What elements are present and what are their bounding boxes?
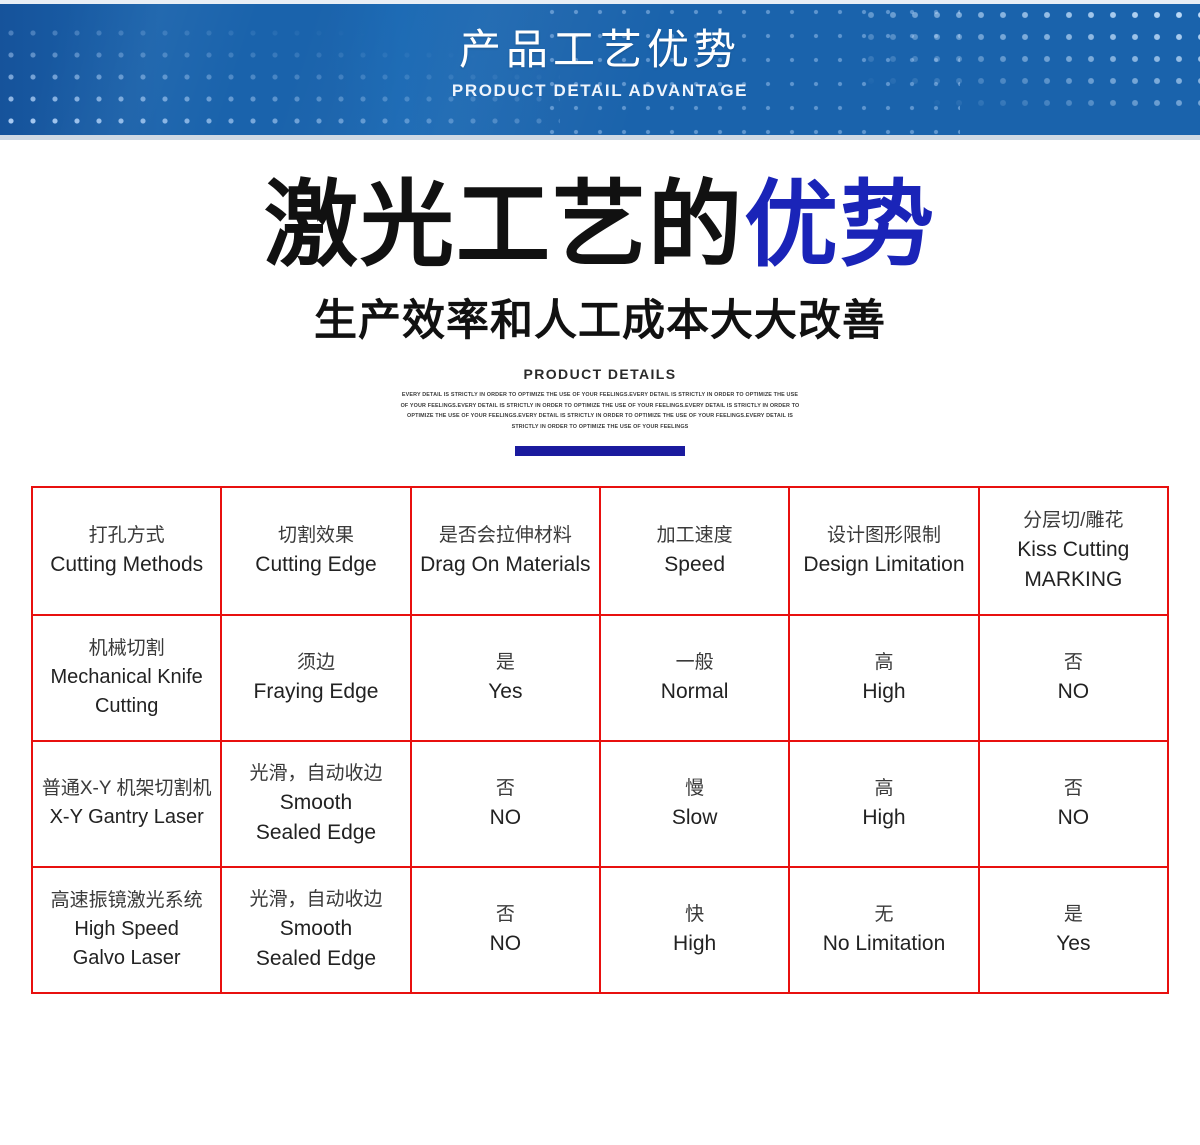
- cell-cutting-edge: 光滑，自动收边 Smooth Sealed Edge: [221, 741, 410, 867]
- cell-cn: 否: [984, 776, 1163, 803]
- banner-title-english: PRODUCT DETAIL ADVANTAGE: [0, 81, 1200, 101]
- banner-content: 产品工艺优势 PRODUCT DETAIL ADVANTAGE: [0, 0, 1200, 101]
- product-details-label: PRODUCT DETAILS: [0, 366, 1200, 382]
- product-details-paragraph: EVERY DETAIL IS STRICTLY IN ORDER TO OPT…: [400, 390, 800, 432]
- page-title-accent-part: 优势: [744, 172, 936, 277]
- column-header-en: Speed: [605, 550, 784, 580]
- table-row: 普通X-Y 机架切割机 X-Y Gantry Laser 光滑，自动收边 Smo…: [32, 741, 1168, 867]
- cell-en2: Cutting: [37, 692, 216, 720]
- cell-cn: 否: [416, 902, 595, 929]
- cell-en2: Sealed Edge: [226, 944, 405, 974]
- cell-design-limitation: 高 High: [789, 741, 978, 867]
- cell-method-name: 普通X-Y 机架切割机 X-Y Gantry Laser: [32, 741, 221, 867]
- cell-en: High: [794, 677, 973, 707]
- cell-kiss-cutting: 是 Yes: [979, 867, 1168, 993]
- column-header-cutting-edge: 切割效果 Cutting Edge: [221, 487, 410, 615]
- cell-cn: 无: [794, 902, 973, 929]
- page-title-black-part: 激光工艺的: [264, 172, 744, 277]
- table-row: 机械切割 Mechanical Knife Cutting 须边 Fraying…: [32, 615, 1168, 741]
- column-header-cn: 打孔方式: [37, 523, 216, 550]
- table-header-row: 打孔方式 Cutting Methods 切割效果 Cutting Edge 是…: [32, 487, 1168, 615]
- column-header-en: Cutting Methods: [37, 550, 216, 580]
- banner-bottom-divider: [0, 135, 1200, 140]
- cell-en: No Limitation: [794, 929, 973, 959]
- column-header-en: Design Limitation: [794, 550, 973, 580]
- cell-en: High: [794, 803, 973, 833]
- cell-cn: 高: [794, 776, 973, 803]
- cell-kiss-cutting: 否 NO: [979, 615, 1168, 741]
- cell-drag-on-materials: 否 NO: [411, 741, 600, 867]
- cell-cn: 光滑，自动收边: [226, 887, 405, 914]
- cell-cutting-edge: 须边 Fraying Edge: [221, 615, 410, 741]
- table-row: 高速振镜激光系统 High Speed Galvo Laser 光滑，自动收边 …: [32, 867, 1168, 993]
- cell-cutting-edge: 光滑，自动收边 Smooth Sealed Edge: [221, 867, 410, 993]
- cell-cn: 普通X-Y 机架切割机: [37, 776, 216, 803]
- cell-speed: 慢 Slow: [600, 741, 789, 867]
- comparison-table-body: 打孔方式 Cutting Methods 切割效果 Cutting Edge 是…: [32, 487, 1168, 993]
- column-header-en: Kiss Cutting: [984, 535, 1163, 565]
- cell-method-name: 机械切割 Mechanical Knife Cutting: [32, 615, 221, 741]
- cell-speed: 一般 Normal: [600, 615, 789, 741]
- headline-section: 激光工艺的优势 生产效率和人工成本大大改善 PRODUCT DETAILS EV…: [0, 140, 1200, 456]
- cell-cn: 光滑，自动收边: [226, 761, 405, 788]
- column-header-kiss-cutting: 分层切/雕花 Kiss Cutting MARKING: [979, 487, 1168, 615]
- cell-speed: 快 High: [600, 867, 789, 993]
- cell-en: Yes: [416, 677, 595, 707]
- cell-drag-on-materials: 否 NO: [411, 867, 600, 993]
- cell-en: High Speed: [37, 915, 216, 943]
- cell-method-name: 高速振镜激光系统 High Speed Galvo Laser: [32, 867, 221, 993]
- cell-en2: Sealed Edge: [226, 818, 405, 848]
- cell-cn: 机械切割: [37, 636, 216, 663]
- column-header-cn: 是否会拉伸材料: [416, 523, 595, 550]
- column-header-design-limitation: 设计图形限制 Design Limitation: [789, 487, 978, 615]
- cell-en: Yes: [984, 929, 1163, 959]
- cell-en: Normal: [605, 677, 784, 707]
- cell-cn: 一般: [605, 650, 784, 677]
- cell-en: Slow: [605, 803, 784, 833]
- column-header-cn: 分层切/雕花: [984, 508, 1163, 535]
- cell-en: Smooth: [226, 788, 405, 818]
- cell-en: X-Y Gantry Laser: [37, 803, 216, 831]
- cell-en: High: [605, 929, 784, 959]
- cell-design-limitation: 无 No Limitation: [789, 867, 978, 993]
- page-banner: 产品工艺优势 PRODUCT DETAIL ADVANTAGE: [0, 0, 1200, 140]
- column-header-en2: MARKING: [984, 565, 1163, 595]
- cell-cn: 是: [416, 650, 595, 677]
- comparison-table-wrapper: 打孔方式 Cutting Methods 切割效果 Cutting Edge 是…: [31, 486, 1169, 994]
- banner-top-divider: [0, 0, 1200, 4]
- cell-cn: 慢: [605, 776, 784, 803]
- column-header-drag-on-materials: 是否会拉伸材料 Drag On Materials: [411, 487, 600, 615]
- page-title: 激光工艺的优势: [0, 178, 1200, 272]
- column-header-cn: 切割效果: [226, 523, 405, 550]
- cell-en: NO: [984, 677, 1163, 707]
- cell-cn: 是: [984, 902, 1163, 929]
- cell-cn: 高: [794, 650, 973, 677]
- cell-cn: 高速振镜激光系统: [37, 888, 216, 915]
- cell-en: Fraying Edge: [226, 677, 405, 707]
- cell-cn: 否: [416, 776, 595, 803]
- cell-en: NO: [416, 803, 595, 833]
- page-subtitle: 生产效率和人工成本大大改善: [0, 286, 1200, 348]
- cell-cn: 否: [984, 650, 1163, 677]
- cell-en: Smooth: [226, 914, 405, 944]
- column-header-cn: 设计图形限制: [794, 523, 973, 550]
- comparison-table: 打孔方式 Cutting Methods 切割效果 Cutting Edge 是…: [31, 486, 1169, 994]
- column-header-en: Cutting Edge: [226, 550, 405, 580]
- cell-drag-on-materials: 是 Yes: [411, 615, 600, 741]
- cell-en2: Galvo Laser: [37, 944, 216, 972]
- cell-cn: 快: [605, 902, 784, 929]
- cell-en: NO: [984, 803, 1163, 833]
- cell-en: NO: [416, 929, 595, 959]
- cell-design-limitation: 高 High: [789, 615, 978, 741]
- section-divider-bar: [515, 446, 685, 456]
- column-header-speed: 加工速度 Speed: [600, 487, 789, 615]
- column-header-en: Drag On Materials: [416, 550, 595, 580]
- cell-en: Mechanical Knife: [37, 663, 216, 691]
- cell-cn: 须边: [226, 650, 405, 677]
- banner-title-chinese: 产品工艺优势: [0, 26, 1200, 74]
- column-header-cn: 加工速度: [605, 523, 784, 550]
- cell-kiss-cutting: 否 NO: [979, 741, 1168, 867]
- column-header-cutting-methods: 打孔方式 Cutting Methods: [32, 487, 221, 615]
